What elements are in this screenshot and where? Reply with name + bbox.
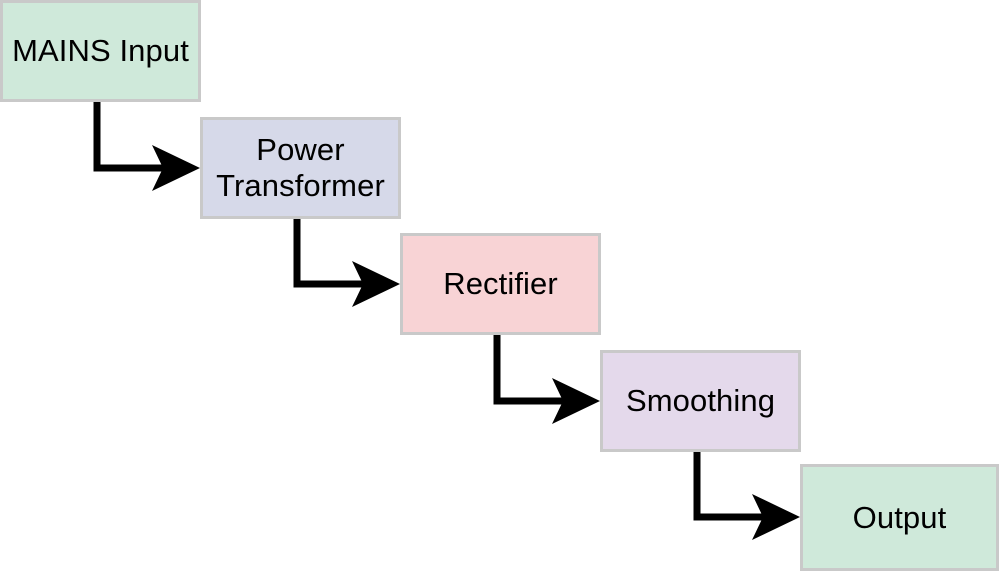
node-power-transformer-label: Power Transformer bbox=[210, 132, 391, 203]
connector-transformer-to-rectifier bbox=[297, 217, 400, 307]
node-power-transformer[interactable]: Power Transformer bbox=[200, 117, 401, 219]
node-output-label: Output bbox=[847, 500, 953, 536]
connector-rectifier-to-smoothing bbox=[497, 333, 600, 424]
connector-mains-to-transformer bbox=[97, 100, 200, 191]
node-rectifier[interactable]: Rectifier bbox=[400, 233, 601, 335]
diagram-canvas: MAINS Input Power Transformer Rectifier … bbox=[0, 0, 1000, 571]
node-mains-input[interactable]: MAINS Input bbox=[0, 0, 201, 102]
node-mains-input-label: MAINS Input bbox=[6, 33, 195, 69]
connector-smoothing-to-output bbox=[697, 450, 800, 540]
node-smoothing-label: Smoothing bbox=[620, 383, 781, 419]
node-rectifier-label: Rectifier bbox=[437, 266, 564, 302]
node-smoothing[interactable]: Smoothing bbox=[600, 350, 801, 452]
node-output[interactable]: Output bbox=[800, 464, 999, 571]
